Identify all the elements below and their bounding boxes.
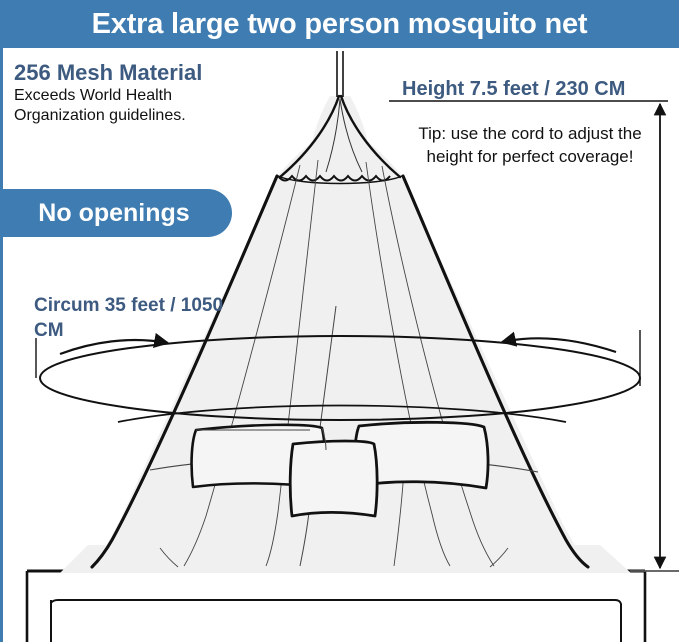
hanging-cord: [337, 51, 343, 97]
tip-text: Tip: use the cord to adjust the height f…: [414, 122, 646, 168]
bed-frame: [27, 571, 645, 642]
cushion-center: [290, 441, 377, 516]
mesh-material-heading: 256 Mesh Material: [14, 60, 202, 86]
left-accent-rule: [0, 48, 3, 642]
header-bar: Extra large two person mosquito net: [0, 0, 679, 48]
mesh-material-subtext: Exceeds World Health Organization guidel…: [14, 86, 244, 126]
infographic-page: Extra large two person mosquito net 256 …: [0, 0, 679, 642]
no-openings-badge: No openings: [0, 189, 232, 237]
height-label: Height 7.5 feet / 230 CM: [402, 78, 625, 101]
page-title: Extra large two person mosquito net: [92, 8, 588, 41]
circumference-label: Circum 35 feet / 1050 CM: [34, 293, 234, 343]
no-openings-label: No openings: [16, 199, 189, 228]
canopy-peak: [279, 95, 401, 177]
